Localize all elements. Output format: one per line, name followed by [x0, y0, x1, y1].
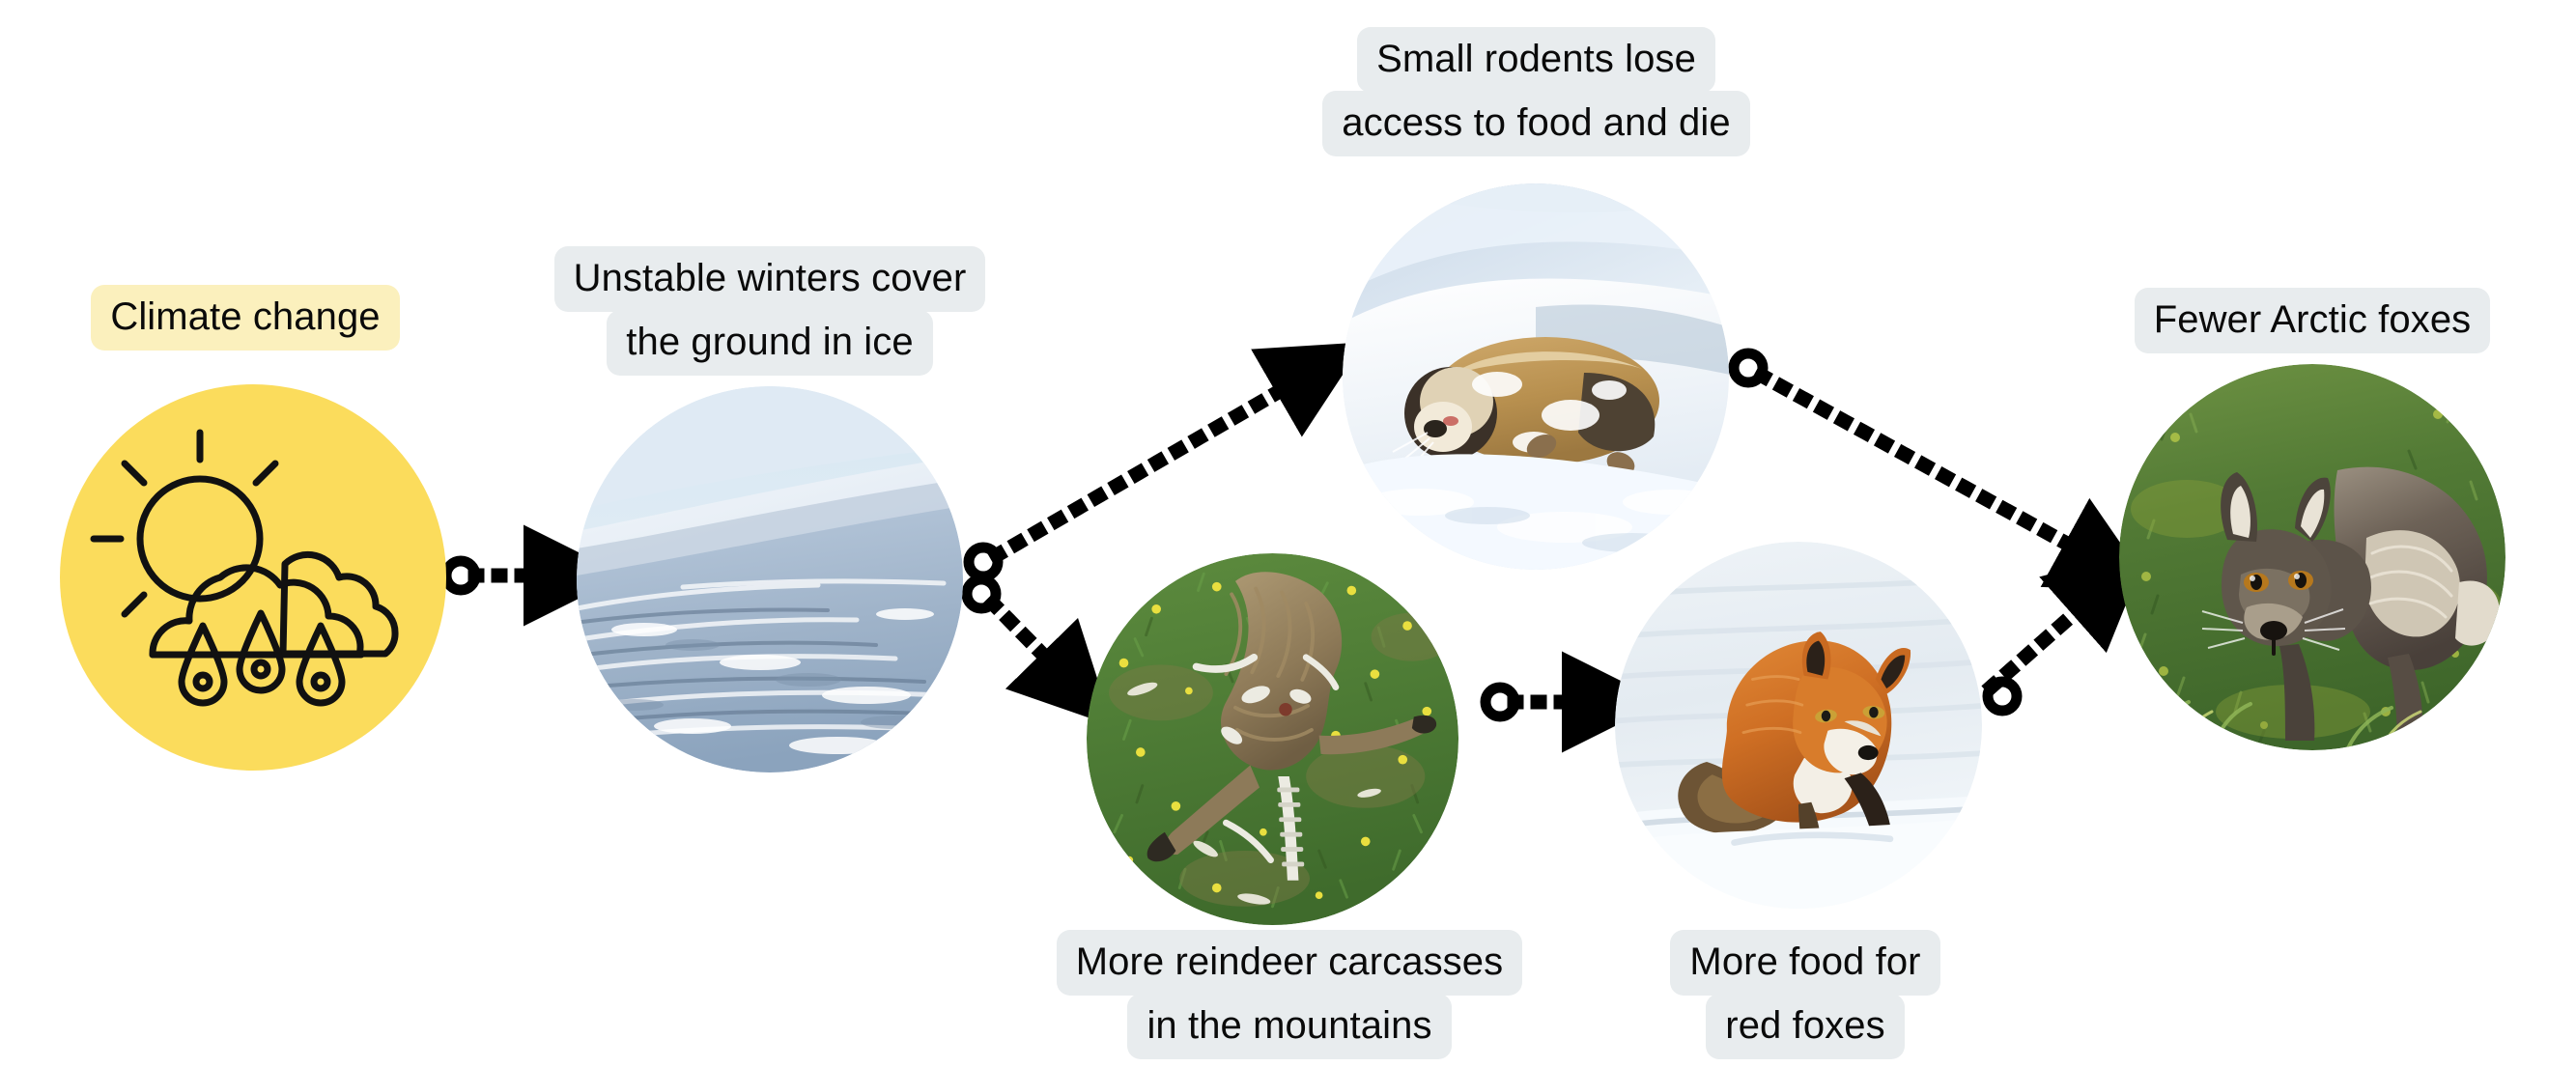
- node-small-rodents[interactable]: [1343, 183, 1729, 570]
- link-unstable-winters-to-small-rodents: [969, 370, 1316, 576]
- label-line: Climate change: [91, 285, 399, 351]
- link-small-rodents-to-fewer-arctic-foxes: [1734, 353, 2106, 565]
- node-more-food-red-foxes[interactable]: [1615, 542, 1982, 909]
- diagram-canvas: Climate change: [0, 0, 2576, 1067]
- label-line: red foxes: [1706, 994, 1904, 1059]
- red-fox-in-snow-photo: [1615, 542, 1982, 909]
- node-climate-change[interactable]: [60, 384, 446, 771]
- link-more-food-red-foxes-to-fewer-arctic-foxes: [1988, 584, 2108, 711]
- weather-sun-cloud-rain-icon: [60, 384, 446, 771]
- node-unstable-winters[interactable]: [577, 386, 963, 772]
- label-line: More reindeer carcasses: [1057, 930, 1522, 996]
- label-reindeer-carcasses: More reindeer carcasses in the mountains: [1053, 930, 1526, 1059]
- node-fewer-arctic-foxes[interactable]: [2119, 364, 2505, 750]
- label-line: Unstable winters cover: [554, 246, 986, 312]
- label-climate-change: Climate change: [81, 285, 410, 351]
- label-fewer-arctic-foxes: Fewer Arctic foxes: [2129, 288, 2496, 353]
- arctic-fox-on-tundra-photo: [2119, 364, 2505, 750]
- label-line: Fewer Arctic foxes: [2135, 288, 2491, 353]
- link-climate-change-to-unstable-winters: [446, 561, 570, 590]
- label-more-food-red-foxes: More food for red foxes: [1680, 930, 1931, 1059]
- label-line: Small rodents lose: [1357, 27, 1715, 93]
- dead-lemming-in-snow-photo: [1343, 183, 1729, 570]
- link-unstable-winters-to-reindeer-carcasses: [967, 579, 1074, 687]
- label-line: in the mountains: [1127, 994, 1451, 1059]
- label-line: the ground in ice: [607, 310, 932, 376]
- icy-snow-covered-tundra-photo: [577, 386, 963, 772]
- label-small-rodents: Small rodents lose access to food and di…: [1331, 27, 1741, 156]
- link-reindeer-carcasses-to-more-food-red-foxes: [1486, 688, 1608, 716]
- label-line: access to food and die: [1322, 91, 1749, 156]
- node-reindeer-carcasses[interactable]: [1087, 553, 1458, 925]
- reindeer-carcass-on-grass-photo: [1087, 553, 1458, 925]
- label-line: More food for: [1670, 930, 1939, 996]
- label-unstable-winters: Unstable winters cover the ground in ice: [543, 246, 997, 376]
